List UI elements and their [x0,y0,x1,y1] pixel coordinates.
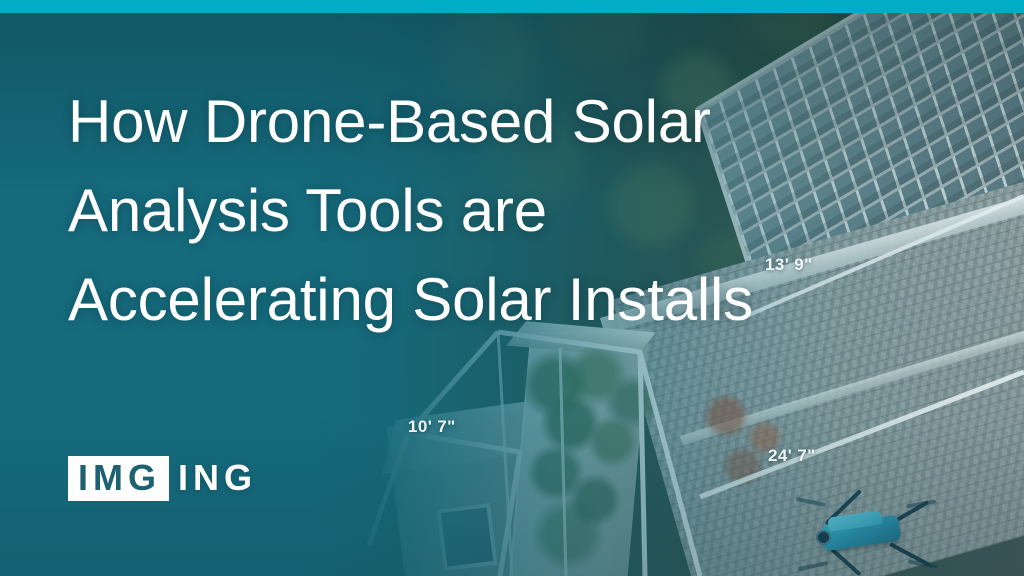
logo-word-ing: ING [169,460,257,496]
hero-banner: 13' 9" 10' 7" 24' 7" How Drone-Based Sol… [0,0,1024,576]
imging-logo[interactable]: IMG ING [68,455,257,501]
logo-mark-img: IMG [68,456,169,501]
top-accent-bar [0,0,1024,13]
measurement-label-eave: 24' 7" [768,446,816,466]
headline-line-1: How Drone-Based Solar [68,78,998,167]
page-title: How Drone-Based Solar Analysis Tools are… [68,78,998,344]
headline-line-3: Accelerating Solar Installs [68,256,998,345]
headline-line-2: Analysis Tools are [68,167,998,256]
measurement-label-dormer: 10' 7" [408,417,456,437]
